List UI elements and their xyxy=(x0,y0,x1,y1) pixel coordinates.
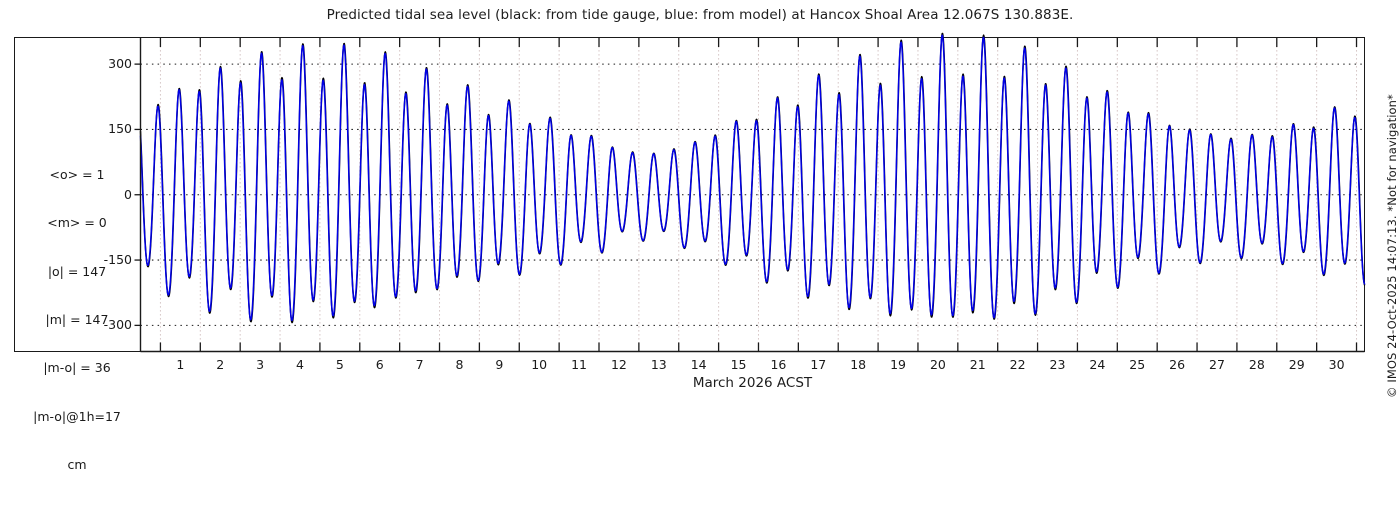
y-tick-label: -150 xyxy=(84,252,132,267)
credit-text-container: © IMOS 24-Oct-2025 14:07:13. *Not for na… xyxy=(1383,0,1400,400)
plot-canvas xyxy=(0,0,1400,400)
credit-text: © IMOS 24-Oct-2025 14:07:13. *Not for na… xyxy=(1385,94,1399,398)
vertical-gridlines xyxy=(160,38,1356,352)
y-tick-label: 0 xyxy=(84,187,132,202)
y-tick-label: -300 xyxy=(84,317,132,332)
y-tick-label: 150 xyxy=(84,121,132,136)
y-tick-label: 300 xyxy=(84,56,132,71)
tidal-chart-figure: Predicted tidal sea level (black: from t… xyxy=(0,0,1400,400)
stat-units: cm xyxy=(14,457,140,473)
stat-abs-diff-1h: |m-o|@1h=17 xyxy=(14,409,140,425)
x-tick-label: 30 xyxy=(1312,357,1362,372)
x-axis-title: March 2026 ACST xyxy=(140,375,1365,391)
horizontal-gridlines xyxy=(141,64,1365,325)
